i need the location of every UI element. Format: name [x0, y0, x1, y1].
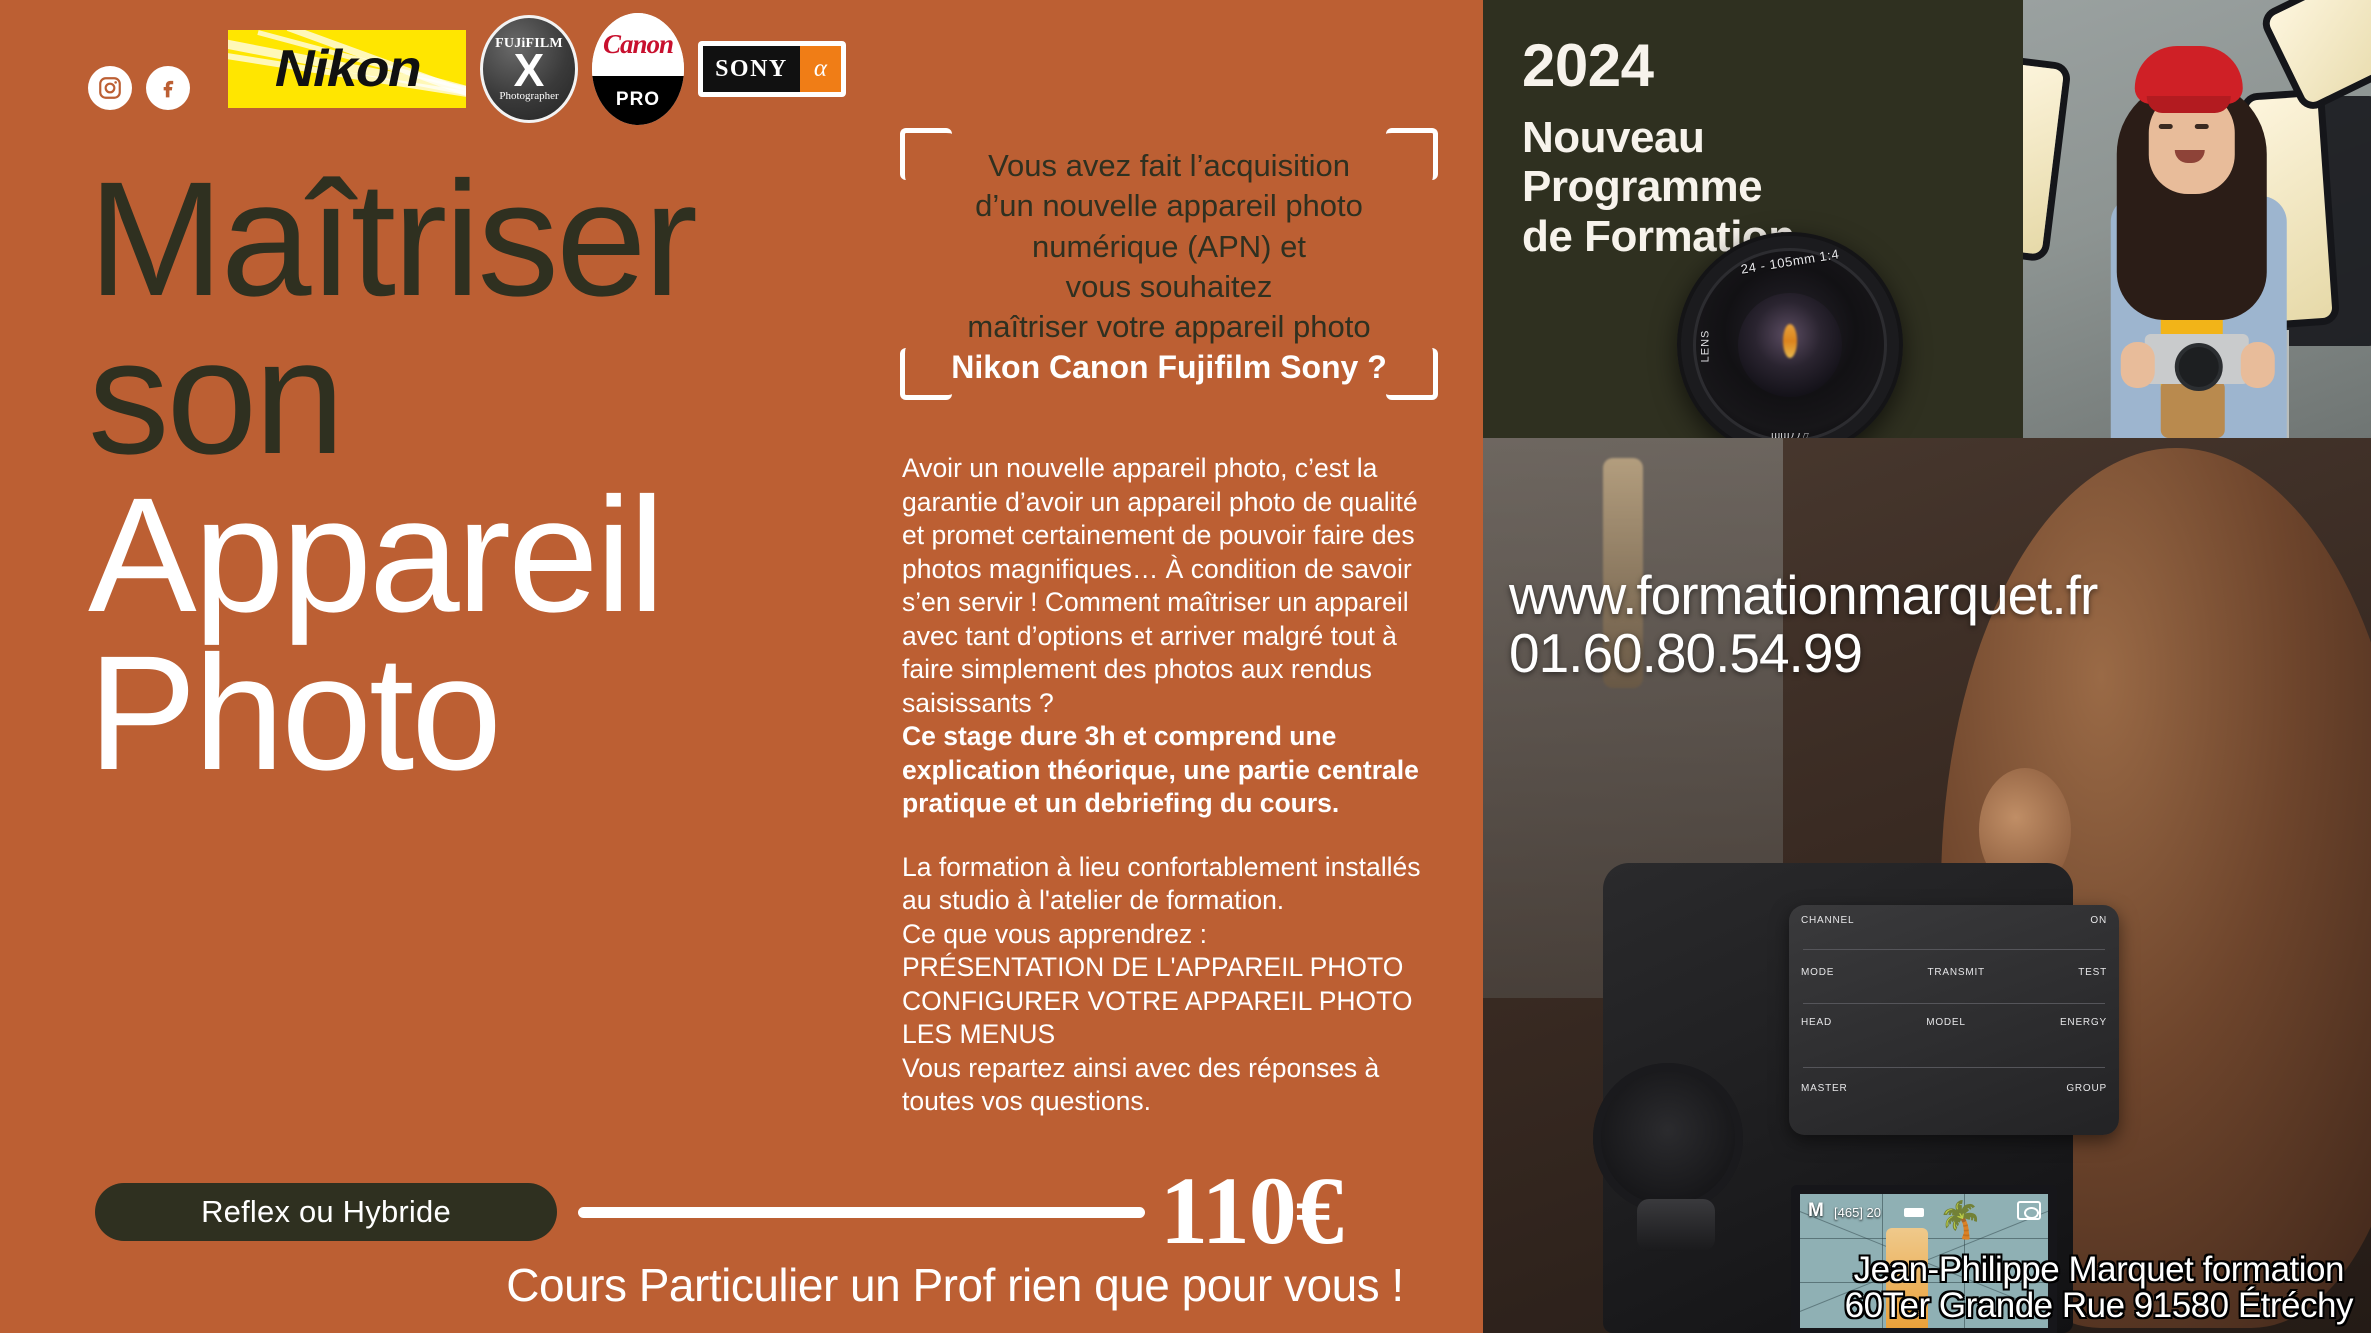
transmit-label: TRANSMIT — [1927, 967, 1985, 978]
address-line-2: 60Ter Grande Rue 91580 Étréchy — [1845, 1288, 2353, 1325]
program-heading: 2024 Nouveau Programme de Formation — [1522, 32, 1795, 261]
phone-number[interactable]: 01.60.80.54.99 — [1509, 624, 2097, 682]
quote-line-4: vous souhaitez — [914, 267, 1424, 307]
softbox-left-icon — [2023, 63, 2064, 254]
bracket-bottom-right — [1386, 348, 1438, 400]
quote-brands: Nikon Canon Fujifilm Sony ? — [914, 349, 1424, 386]
studio-photo — [2023, 0, 2371, 438]
dslr-lens-icon — [1593, 1063, 1743, 1213]
curriculum-item-2: CONFIGURER VOTRE APPAREIL PHOTO — [902, 985, 1442, 1019]
fujifilm-x-mark: X — [514, 50, 545, 91]
metering-icon — [2017, 1201, 2041, 1220]
body-paragraph-2-line-1: La formation à lieu confortablement inst… — [902, 851, 1442, 885]
body-copy: Avoir un nouvelle appareil photo, c’est … — [902, 452, 1442, 1119]
address-line-1: Jean-Philippe Marquet formation — [1845, 1252, 2353, 1289]
program-year: 2024 — [1522, 32, 1795, 99]
status-badge: Reflex ou Hybride — [95, 1183, 557, 1241]
trigger-sep-1 — [1803, 949, 2105, 950]
right-column: 2024 Nouveau Programme de Formation — [1483, 0, 2371, 1333]
mode-label: MODE — [1801, 967, 1834, 978]
trigger-row-controls: HEAD MODEL ENERGY — [1801, 1017, 2107, 1028]
trigger-row-channel: CHANNEL ON — [1801, 915, 2107, 926]
trigger-row-master: MASTER GROUP — [1801, 1083, 2107, 1094]
program-line-1: Nouveau — [1522, 113, 1795, 162]
tagline: Cours Particulier un Prof rien que pour … — [420, 1258, 1490, 1312]
lcd-mode-label: M — [1808, 1200, 1824, 1222]
bracket-top-left — [900, 128, 952, 180]
film-camera-icon — [2145, 334, 2249, 384]
contact-block: www.formationmarquet.fr 01.60.80.54.99 — [1509, 566, 2097, 683]
lcd-shot-count: [465] 20 — [1834, 1205, 1881, 1220]
quote-line-3: numérique (APN) et — [914, 227, 1424, 267]
group-label: GROUP — [2066, 1083, 2107, 1094]
hand-right — [2241, 342, 2275, 388]
body-paragraph-2-line-3: Ce que vous apprendrez : — [902, 918, 1442, 952]
body-paragraph-3-line-1: Vous repartez ainsi avec des réponses à — [902, 1052, 1442, 1086]
headline-line-1: Maîtriser — [88, 160, 928, 318]
bracket-top-right — [1386, 128, 1438, 180]
sony-orange-block: α — [800, 46, 841, 92]
quote-line-2: d’un nouvelle appareil photo — [914, 186, 1424, 226]
canon-pro-logo: Canon PRO — [592, 13, 684, 125]
body-paragraph-3-line-2: toutes vos questions. — [902, 1085, 1442, 1119]
canon-wordmark: Canon — [603, 29, 673, 60]
fujifilm-photographer-label: Photographer — [499, 90, 558, 102]
badge-label: Reflex ou Hybride — [201, 1194, 451, 1230]
red-beanie — [2135, 46, 2243, 104]
facebook-icon[interactable] — [146, 66, 190, 110]
sony-alpha-logo: SONY α — [698, 41, 846, 97]
brand-logos: Nikon FUJiFILM X Photographer Canon PRO … — [228, 24, 846, 114]
body-paragraph-1: Avoir un nouvelle appareil photo, c’est … — [902, 452, 1442, 720]
curriculum-item-1: PRÉSENTATION DE L'APPAREIL PHOTO — [902, 951, 1442, 985]
eye-right — [2195, 124, 2209, 129]
model-label: MODEL — [1926, 1017, 1966, 1028]
trigger-sep-3 — [1803, 1067, 2105, 1068]
curriculum-item-3: LES MENUS — [902, 1018, 1442, 1052]
photographer-woman — [2083, 46, 2321, 438]
bracket-bottom-left — [900, 348, 952, 400]
program-line-2: Programme — [1522, 162, 1795, 211]
sony-black-block: SONY — [703, 46, 800, 92]
divider — [578, 1207, 1145, 1218]
flash-trigger: CHANNEL ON MODE TRANSMIT TEST HEAD MODEL… — [1789, 905, 2119, 1135]
address-block: Jean-Philippe Marquet formation 60Ter Gr… — [1845, 1252, 2353, 1326]
test-label: TEST — [2078, 967, 2107, 978]
instagram-icon[interactable] — [88, 66, 132, 110]
website-url[interactable]: www.formationmarquet.fr — [1509, 566, 2097, 624]
body-paragraph-2-line-2: au studio à l'atelier de formation. — [902, 884, 1442, 918]
battery-icon — [1904, 1208, 1924, 1217]
energy-label: ENERGY — [2060, 1017, 2107, 1028]
trigger-sep-2 — [1803, 1003, 2105, 1004]
on-label: ON — [2090, 915, 2107, 926]
canon-bottom: PRO — [592, 76, 684, 125]
lens-flare — [1783, 324, 1797, 358]
eye-left — [2159, 124, 2173, 129]
headline-line-3: Appareil — [88, 476, 928, 634]
headline-line-2: son — [88, 318, 928, 476]
poster-root: Nikon FUJiFILM X Photographer Canon PRO … — [0, 0, 2371, 1333]
canon-top: Canon — [592, 13, 684, 76]
hand-left — [2121, 342, 2155, 388]
social-links — [88, 66, 190, 110]
sony-wordmark: SONY — [715, 56, 788, 83]
body-bold-1: Ce stage dure 3h et comprend une explica… — [902, 720, 1442, 821]
lens-word-label: LENS — [1699, 330, 1711, 363]
camera-lens-icon: 24 - 105mm 1:4 LENS ⌰77mm — [1677, 232, 1903, 458]
quote-line-5: maîtriser votre appareil photo — [914, 307, 1424, 347]
head-label: HEAD — [1801, 1017, 1832, 1028]
quote-box: Vous avez fait l’acquisition d’un nouvel… — [900, 128, 1438, 400]
page-title: Maîtriser son Appareil Photo — [88, 160, 928, 792]
fujifilm-x-photographer-logo: FUJiFILM X Photographer — [480, 15, 578, 123]
nikon-logo: Nikon — [228, 30, 466, 108]
headline-line-4: Photo — [88, 634, 928, 792]
channel-label: CHANNEL — [1801, 915, 1854, 926]
trigger-row-mode: MODE TRANSMIT TEST — [1801, 967, 2107, 978]
master-label: MASTER — [1801, 1083, 1847, 1094]
spacer — [902, 821, 1442, 851]
canon-pro-label: PRO — [616, 89, 660, 111]
mode-dial — [1637, 1199, 1715, 1251]
quote-line-1: Vous avez fait l’acquisition — [914, 146, 1424, 186]
palm-tree-icon: 🌴 — [1938, 1202, 1978, 1246]
sony-alpha-symbol: α — [814, 55, 827, 83]
nikon-wordmark: Nikon — [274, 39, 419, 99]
price-label: 110€ — [1160, 1163, 1343, 1259]
